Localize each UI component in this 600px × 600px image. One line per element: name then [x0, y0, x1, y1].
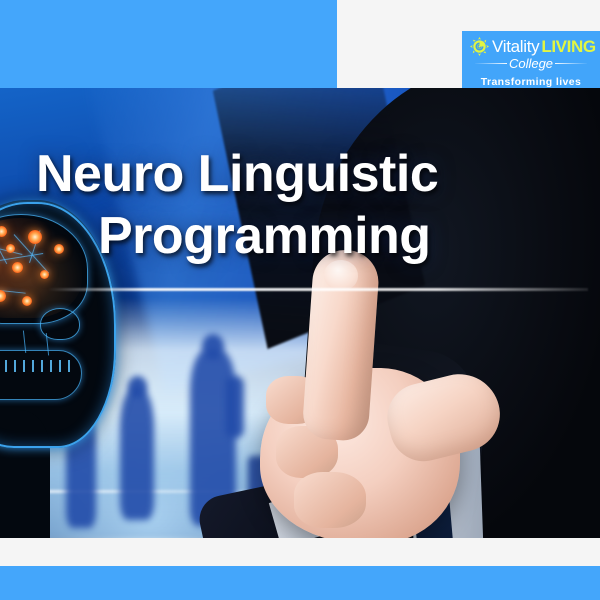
top-strip: Vitality LIVING College Transforming liv… — [0, 0, 600, 88]
vitality-living-college-logo[interactable]: Vitality LIVING College Transforming liv… — [462, 31, 600, 88]
hero-banner-image: Neuro Linguistic Programming — [0, 88, 600, 538]
teeth-outline — [0, 360, 70, 372]
sun-spiral-icon — [470, 37, 489, 56]
logo-divider-left — [475, 63, 507, 64]
knuckle — [294, 472, 366, 528]
logo-college-row: College — [468, 56, 594, 71]
logo-word-college: College — [508, 57, 554, 71]
bottom-white-gap — [0, 538, 600, 566]
brain-synapse-node — [12, 262, 23, 273]
brain-synapse-node — [54, 244, 64, 254]
xray-skull-brain-graphic — [0, 200, 134, 538]
hero-title-underline — [48, 288, 588, 291]
logo-word-living: LIVING — [541, 37, 595, 56]
logo-divider-right — [555, 63, 587, 64]
pointing-hand-graphic — [236, 248, 536, 538]
top-blue-bar — [0, 0, 337, 88]
page-root: Vitality LIVING College Transforming liv… — [0, 0, 600, 600]
logo-word-vitality: Vitality — [492, 37, 539, 56]
jaw-outline — [0, 350, 82, 400]
logo-brand-row: Vitality LIVING — [470, 35, 594, 57]
logo-tagline: Transforming lives — [481, 76, 582, 88]
brain-synapse-node — [22, 296, 32, 306]
blurred-person-head — [202, 334, 224, 359]
brain-synapse-node — [28, 230, 42, 244]
brain-synapse-node — [6, 244, 15, 253]
brain-synapse-node — [40, 270, 49, 279]
bottom-blue-bar — [0, 566, 600, 600]
logo-tagline-row: Transforming lives — [468, 72, 594, 88]
